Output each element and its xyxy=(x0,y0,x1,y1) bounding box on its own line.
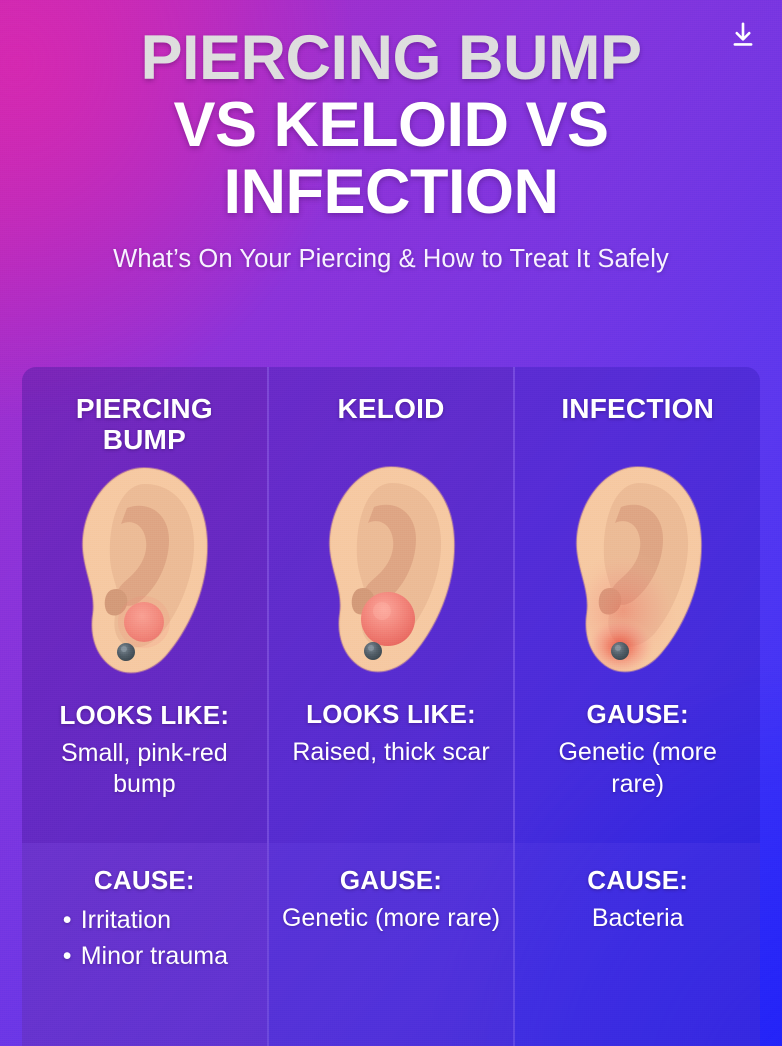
comparison-column-piercing-bump: PIERCING BUMP xyxy=(22,367,269,1046)
column-top-section: INFECTION xyxy=(515,367,760,843)
column-title: PIERCING BUMP xyxy=(34,393,255,456)
infographic-header: PIERCING BUMP VS KELOID VS INFECTION Wha… xyxy=(0,0,782,274)
column-field-looks-like: LOOKS LIKE: Small, pink-red bump xyxy=(34,700,255,802)
title-line-2: VS KELOID VS xyxy=(34,95,748,156)
field-value: Genetic (more rare) xyxy=(533,737,742,801)
ear-illustration-infection xyxy=(527,457,748,685)
column-field-looks-like: LOOKS LIKE: Raised, thick scar xyxy=(281,699,502,769)
comparison-column-keloid: KELOID xyxy=(269,367,516,1046)
column-top-section: KELOID xyxy=(269,367,514,843)
column-title: INFECTION xyxy=(561,393,714,455)
column-field-cause-top: GAUSE: Genetic (more rare) xyxy=(527,699,748,801)
download-icon xyxy=(728,20,758,50)
field-label: CAUSE: xyxy=(34,865,255,896)
title-line-1: PIERCING BUMP xyxy=(34,28,748,89)
ear-illustration-keloid xyxy=(281,457,502,685)
field-value: Raised, thick scar xyxy=(287,737,496,769)
column-bottom-section: CAUSE: Irritation Minor trauma xyxy=(22,843,267,1046)
field-value: Genetic (more rare) xyxy=(281,903,502,935)
comparison-column-infection: INFECTION xyxy=(515,367,760,1046)
column-title: KELOID xyxy=(338,393,445,455)
download-button[interactable] xyxy=(722,14,764,56)
title-line-3: INFECTION xyxy=(34,162,748,223)
field-label: GAUSE: xyxy=(533,699,742,730)
column-bottom-section: GAUSE: Genetic (more rare) xyxy=(269,843,514,1046)
field-label: GAUSE: xyxy=(281,865,502,896)
cause-bullet-list: Irritation Minor trauma xyxy=(61,904,228,972)
field-label: LOOKS LIKE: xyxy=(287,699,496,730)
column-bottom-section: CAUSE: Bacteria xyxy=(515,843,760,1046)
comparison-card: PIERCING BUMP xyxy=(22,367,760,1046)
list-item: Minor trauma xyxy=(61,940,228,972)
field-value: Small, pink-red bump xyxy=(40,738,249,802)
comparison-columns: PIERCING BUMP xyxy=(22,367,760,1046)
field-value: Bacteria xyxy=(527,903,748,935)
column-top-section: PIERCING BUMP xyxy=(22,367,267,843)
list-item: Irritation xyxy=(61,904,228,936)
page-title: PIERCING BUMP VS KELOID VS INFECTION xyxy=(34,28,748,223)
field-label: CAUSE: xyxy=(527,865,748,896)
page-subtitle: What’s On Your Piercing & How to Treat I… xyxy=(34,245,748,274)
field-label: LOOKS LIKE: xyxy=(40,700,249,731)
ear-illustration-piercing-bump xyxy=(34,458,255,686)
